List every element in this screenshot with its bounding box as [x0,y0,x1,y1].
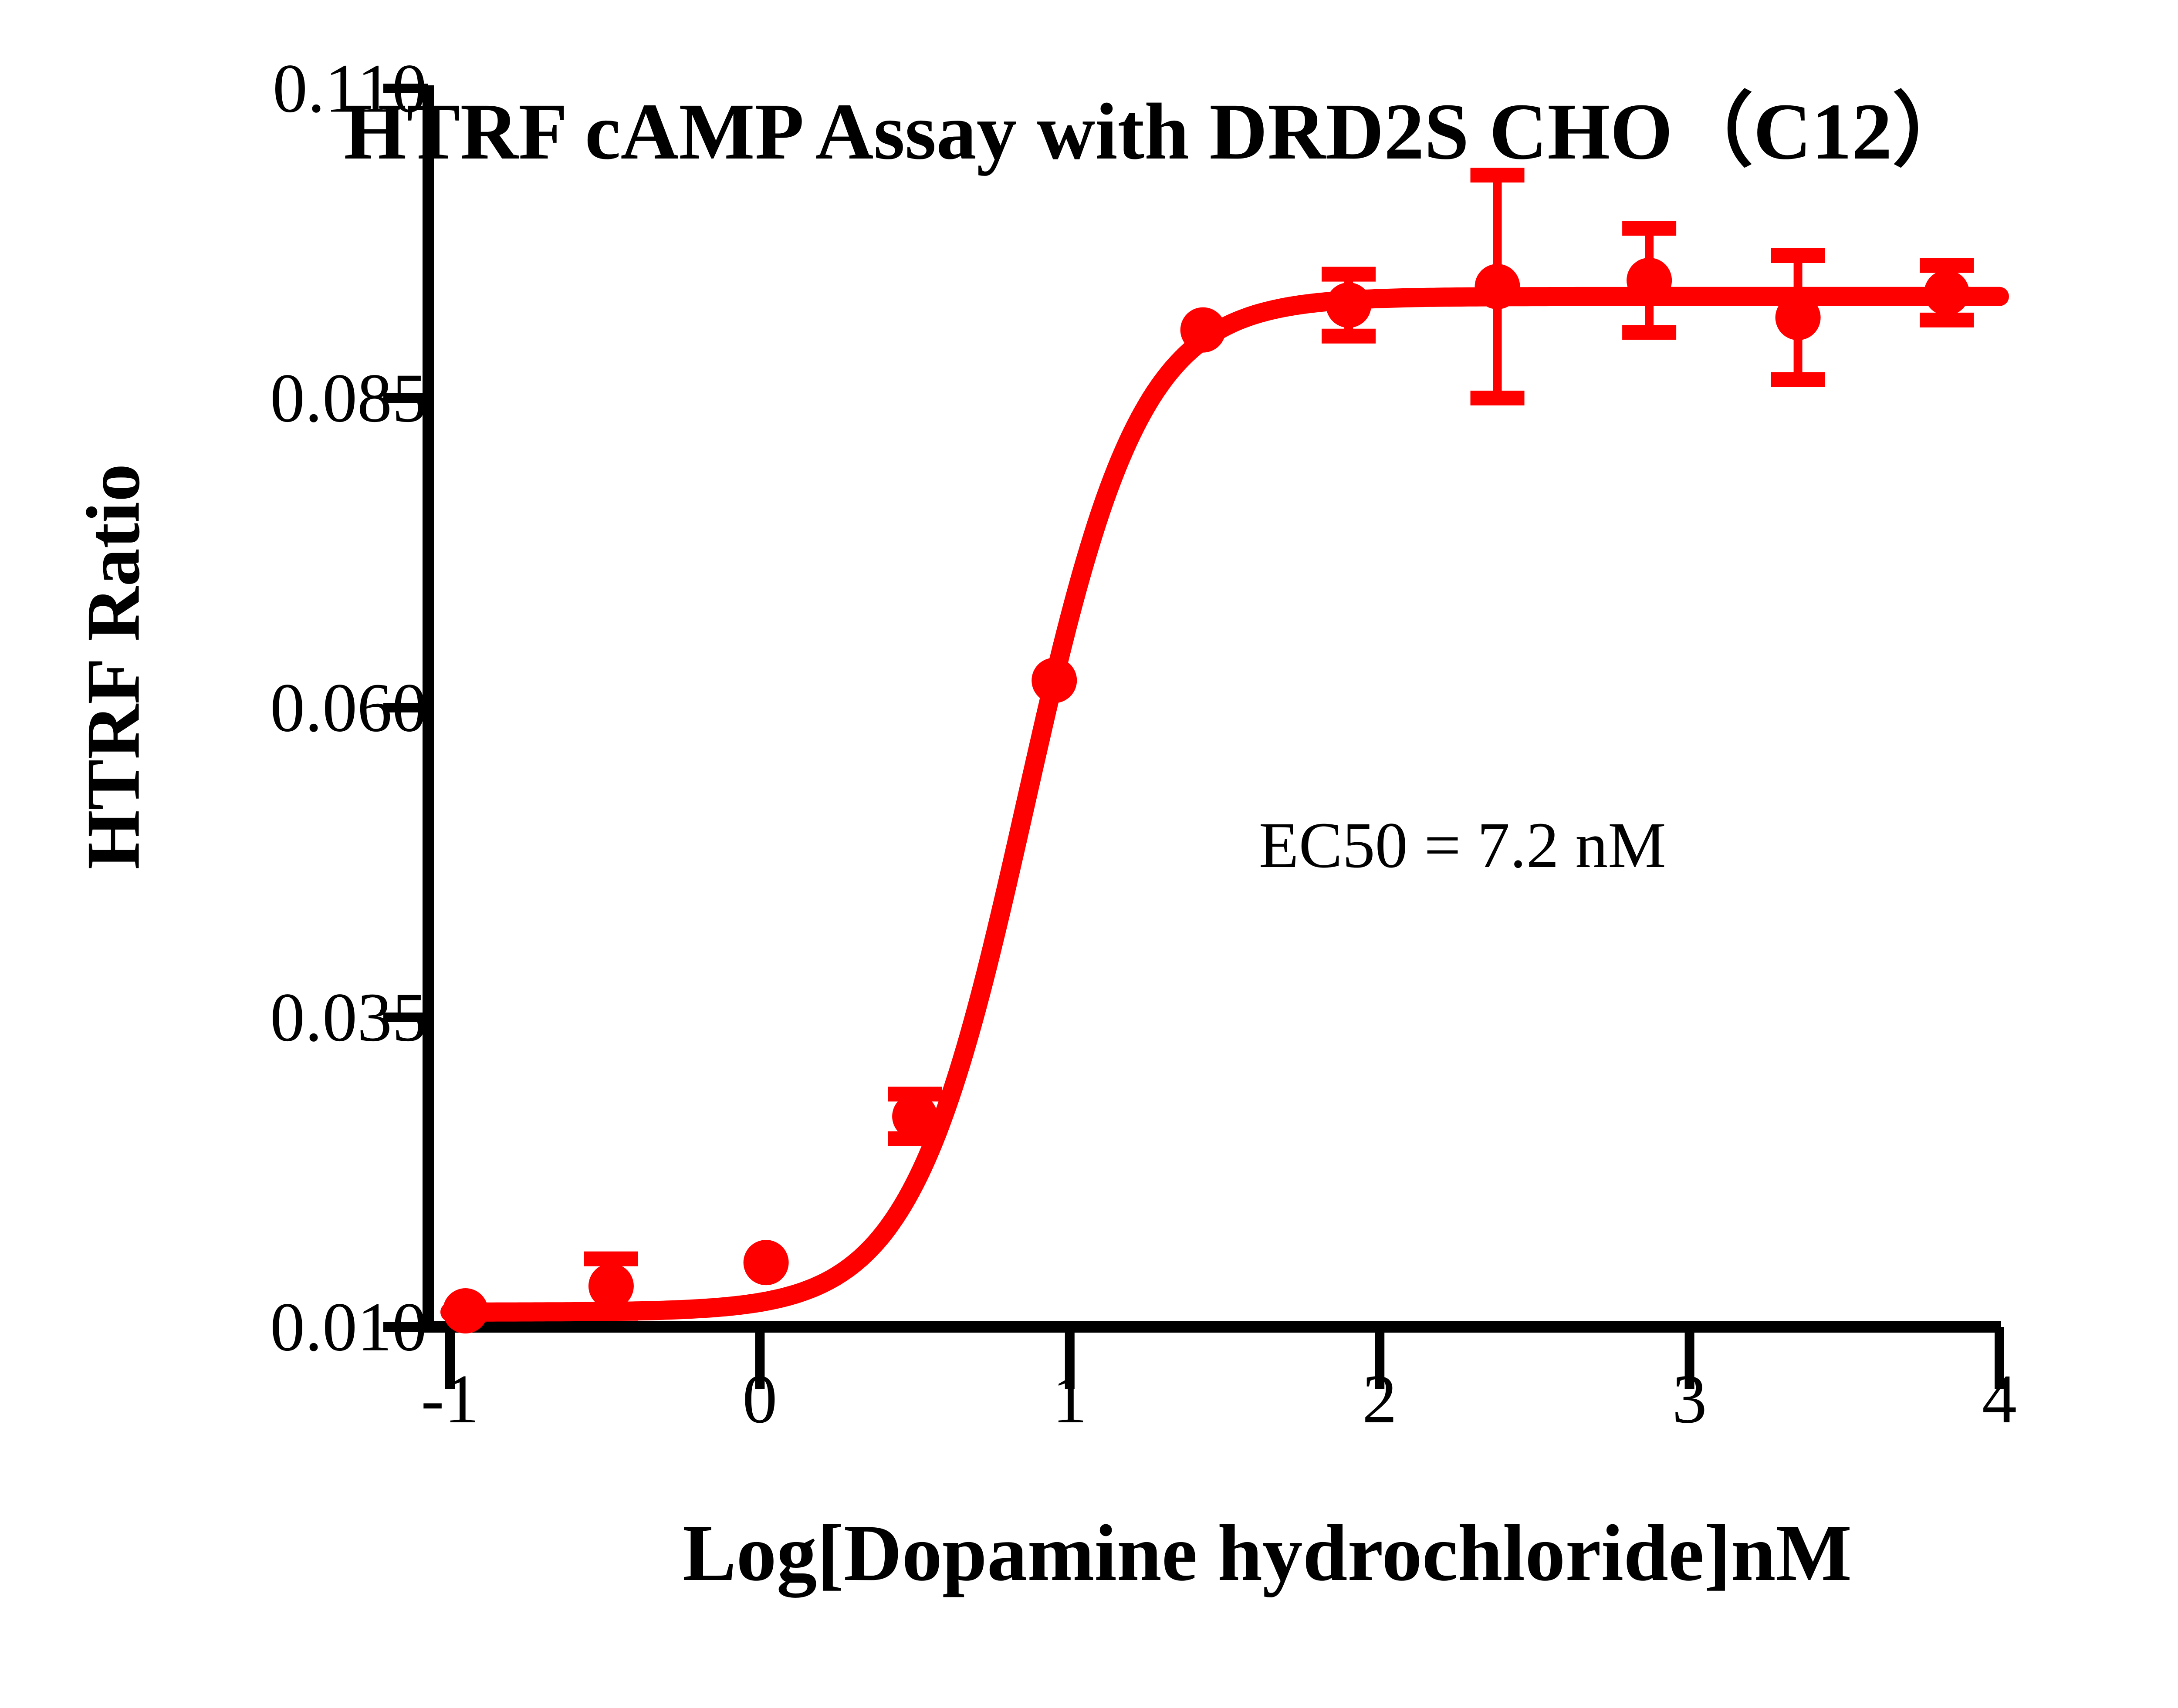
data-point-marker [1326,283,1371,328]
chart-figure: HTRF cAMP Assay with DRD2S CHO（C12） HTRF… [0,0,2178,1708]
x-tick-label: 3 [1624,1359,1755,1439]
data-point-marker [1180,307,1226,353]
plot-area [0,0,2178,1708]
data-point-markers [443,258,1969,1333]
y-tick-label: 0.110 [35,48,427,129]
data-point-marker [1627,258,1672,303]
x-tick-label: 4 [1934,1359,2065,1439]
data-point-marker [892,1094,937,1139]
data-point-marker [443,1288,488,1333]
y-tick-label: 0.010 [35,1287,427,1367]
error-bars [584,175,1974,1313]
x-tick-label: -1 [385,1359,515,1439]
fit-curve [450,297,1999,1312]
data-point-marker [744,1240,789,1285]
data-point-marker [588,1263,634,1309]
data-point-marker [1776,295,1821,340]
x-tick-label: 1 [1004,1359,1135,1439]
y-tick-label: 0.035 [35,977,427,1058]
y-tick-label: 0.085 [35,358,427,439]
data-point-marker [1032,658,1077,703]
data-point-marker [1475,264,1520,309]
x-axis-ticks [450,1327,1999,1389]
x-tick-label: 2 [1314,1359,1445,1439]
axis-lines [423,85,2001,1332]
x-tick-label: 0 [694,1359,825,1439]
data-point-marker [1924,270,1969,315]
y-tick-label: 0.060 [35,668,427,748]
